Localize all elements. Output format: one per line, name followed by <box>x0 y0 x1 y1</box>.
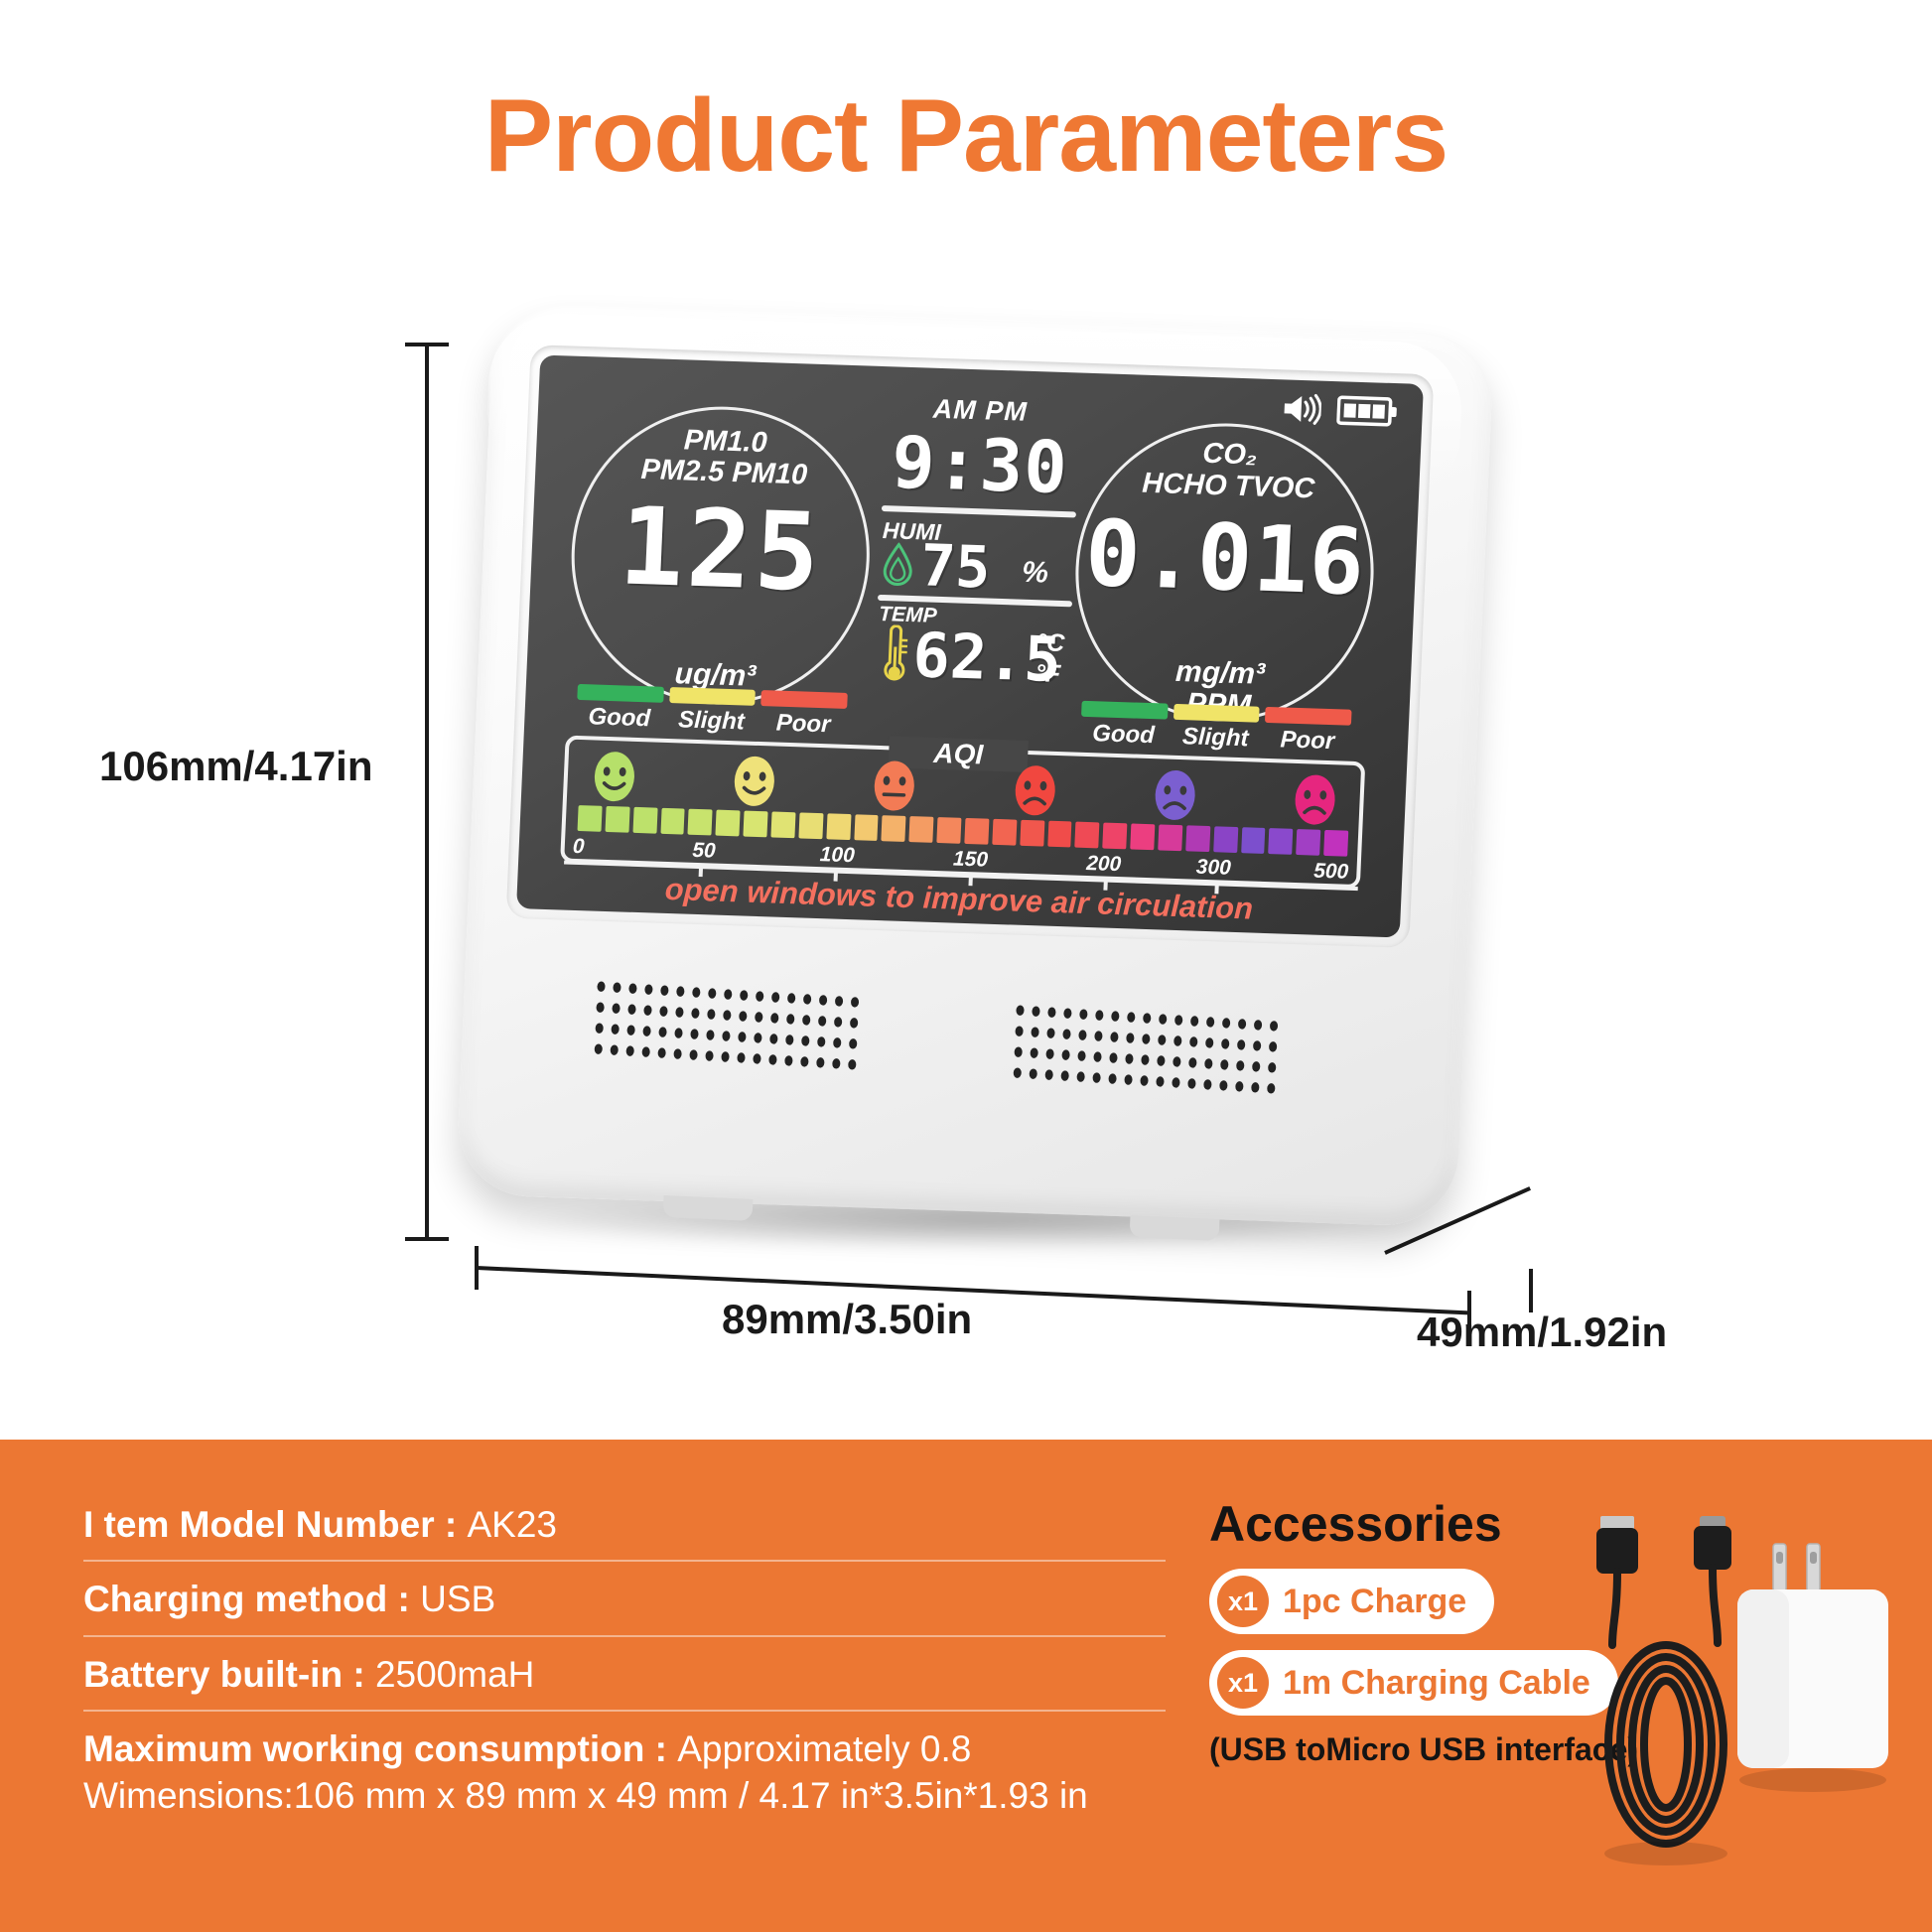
aqi-tick-100: 100 <box>819 843 855 868</box>
aqi-segment-2 <box>632 807 657 834</box>
face-happy-green <box>591 750 638 802</box>
speaker-grille-left <box>590 976 868 1070</box>
height-dimension-cap-top <box>405 343 449 346</box>
aqi-tickmark-300 <box>1214 882 1219 894</box>
clock-time: 9:30 <box>884 420 1076 509</box>
accessories-block: Accessories x11pc Chargex11m Charging Ca… <box>1209 1495 1636 1768</box>
pm-quality-scale: GoodSlightPoor <box>576 684 848 740</box>
specs-list: I tem Model Number : AK23Charging method… <box>83 1487 1166 1832</box>
page-title: Product Parameters <box>0 77 1932 196</box>
aqi-segment-13 <box>937 817 962 844</box>
pm-quality-label-poor: Poor <box>759 709 847 740</box>
spec-row: Maximum working consumption : Approximat… <box>83 1712 1166 1832</box>
gas-labels: CO₂ HCHO TVOC <box>1079 435 1380 508</box>
water-drop-icon <box>881 542 916 587</box>
thermometer-icon <box>878 624 910 687</box>
aqi-segment-14 <box>964 818 989 845</box>
spec-value: USB <box>420 1579 495 1619</box>
aqi-segment-22 <box>1185 825 1210 852</box>
aqi-tick-200: 200 <box>1086 852 1122 877</box>
aqi-segment-3 <box>660 808 685 835</box>
aqi-segment-23 <box>1213 826 1238 853</box>
pm-quality-label-good: Good <box>576 703 663 734</box>
accessory-pill: x11pc Charge <box>1209 1569 1494 1634</box>
accessory-quantity-badge: x1 <box>1217 1576 1269 1627</box>
aqi-segment-10 <box>854 814 879 841</box>
pm-quality-bar-good <box>577 684 663 703</box>
pm-quality-bar-poor <box>761 690 848 709</box>
temperature-unit-celsius: °C <box>1036 627 1065 659</box>
aqi-tickmark-100 <box>834 870 839 882</box>
aqi-segment-18 <box>1075 822 1100 849</box>
product-overview-section: Product Parameters 106mm/4.17in 89mm/3.5… <box>0 0 1932 1440</box>
aqi-segment-8 <box>798 812 823 839</box>
pm-quality-labels: GoodSlightPoor <box>576 703 847 740</box>
face-sad-red <box>1011 763 1058 816</box>
temperature-units: °C °F <box>1035 627 1065 690</box>
face-sad-magenta <box>1291 773 1338 826</box>
humidity-value: 75 <box>919 531 992 601</box>
depth-dimension-cap <box>1529 1269 1533 1312</box>
aqi-tick-150: 150 <box>952 848 988 873</box>
gas-quality-bar-good <box>1081 701 1168 720</box>
aqi-segment-9 <box>826 813 851 840</box>
height-dimension-line <box>425 343 429 1241</box>
width-dimension-label: 89mm/3.50in <box>722 1296 972 1343</box>
aqi-tick-500: 500 <box>1313 860 1349 885</box>
aqi-tickmark-200 <box>1103 879 1108 891</box>
accessories-note: (USB toMicro USB interface) <box>1209 1731 1636 1768</box>
spec-row: Charging method : USB <box>83 1562 1166 1636</box>
face-sad-purple <box>1151 768 1198 821</box>
spec-value: Approximately 0.8 <box>677 1728 971 1769</box>
aqi-segment-24 <box>1241 827 1266 854</box>
aqi-segment-6 <box>744 811 768 838</box>
pm-labels: PM1.0 PM2.5 PM10 <box>575 422 876 494</box>
aqi-segment-0 <box>578 805 603 832</box>
spec-row: Battery built-in : 2500maH <box>83 1637 1166 1712</box>
aqi-segment-20 <box>1130 823 1155 850</box>
spec-subvalue: Wimensions:106 mm x 89 mm x 49 mm / 4.17… <box>83 1772 1166 1819</box>
accessories-pill-list: x11pc Chargex11m Charging Cable <box>1209 1569 1636 1716</box>
aqi-segment-15 <box>992 819 1017 846</box>
battery-full-icon <box>1336 394 1399 428</box>
pm-quality-label-slight: Slight <box>668 706 756 737</box>
accessory-label: 1pc Charge <box>1283 1583 1466 1621</box>
spec-value: AK23 <box>467 1504 557 1545</box>
humidity-unit: % <box>1022 556 1049 591</box>
device-foot-left <box>663 1195 754 1221</box>
width-dimension-line <box>477 1266 1468 1314</box>
lcd-screen: PM1.0 PM2.5 PM10 125 ug/m³ AM PM 9:30 HU… <box>516 355 1424 938</box>
aqi-segment-27 <box>1323 830 1348 857</box>
aqi-segment-25 <box>1269 828 1294 855</box>
air-quality-monitor-device: PM1.0 PM2.5 PM10 125 ug/m³ AM PM 9:30 HU… <box>475 318 1475 1251</box>
spec-key: Battery built-in : <box>83 1654 375 1695</box>
aqi-segment-5 <box>716 810 741 837</box>
accessories-product-image <box>1579 1514 1926 1921</box>
aqi-segment-21 <box>1158 824 1182 851</box>
device-foot-right <box>1130 1215 1220 1241</box>
spec-row: I tem Model Number : AK23 <box>83 1487 1166 1562</box>
accessory-label: 1m Charging Cable <box>1283 1664 1590 1703</box>
gas-quality-bar-poor <box>1265 707 1351 726</box>
aqi-tick-0: 0 <box>572 835 585 859</box>
aqi-segment-26 <box>1296 829 1320 856</box>
gas-quality-label-slight: Slight <box>1172 723 1259 754</box>
speaker-grille-right <box>1009 1000 1287 1094</box>
face-neutral-orange <box>871 759 918 812</box>
accessories-title: Accessories <box>1209 1495 1636 1553</box>
spec-value: 2500maH <box>375 1654 534 1695</box>
aqi-tickmark-50 <box>699 865 704 877</box>
aqi-tick-300: 300 <box>1195 856 1231 881</box>
speaker-on-icon <box>1281 391 1321 426</box>
gas-quality-scale: GoodSlightPoor <box>1080 701 1352 757</box>
gas-quality-label-poor: Poor <box>1264 726 1351 757</box>
aqi-segment-16 <box>1020 820 1044 847</box>
aqi-segment-19 <box>1103 823 1128 850</box>
pm-quality-bar-slight <box>669 687 756 706</box>
accessory-quantity-badge: x1 <box>1217 1657 1269 1709</box>
height-dimension-label: 106mm/4.17in <box>99 743 373 790</box>
gas-quality-bar-slight <box>1173 704 1260 723</box>
spec-key: Charging method : <box>83 1579 420 1619</box>
accessory-pill: x11m Charging Cable <box>1209 1650 1618 1716</box>
status-icon-row <box>1281 391 1399 429</box>
aqi-segment-4 <box>688 809 713 836</box>
aqi-segment-12 <box>909 816 934 843</box>
gas-value: 0.016 <box>1064 499 1387 617</box>
gas-quality-labels: GoodSlightPoor <box>1080 720 1351 757</box>
width-dimension-cap-left <box>475 1246 479 1290</box>
depth-dimension-label: 49mm/1.92in <box>1417 1309 1667 1356</box>
face-happy-yellow <box>731 755 778 807</box>
aqi-segment-7 <box>770 811 795 838</box>
spec-key: Maximum working consumption : <box>83 1728 677 1769</box>
aqi-segment-17 <box>1047 821 1072 848</box>
spec-key: I tem Model Number : <box>83 1504 467 1545</box>
height-dimension-cap-bottom <box>405 1237 449 1241</box>
aqi-tick-50: 50 <box>692 839 716 864</box>
aqi-tickmark-150 <box>968 874 973 886</box>
aqi-segment-1 <box>605 806 629 833</box>
temperature-unit-fahrenheit: °F <box>1035 658 1063 690</box>
aqi-segment-11 <box>882 815 906 842</box>
gas-quality-label-good: Good <box>1080 720 1168 751</box>
pm-value: 125 <box>569 483 872 618</box>
